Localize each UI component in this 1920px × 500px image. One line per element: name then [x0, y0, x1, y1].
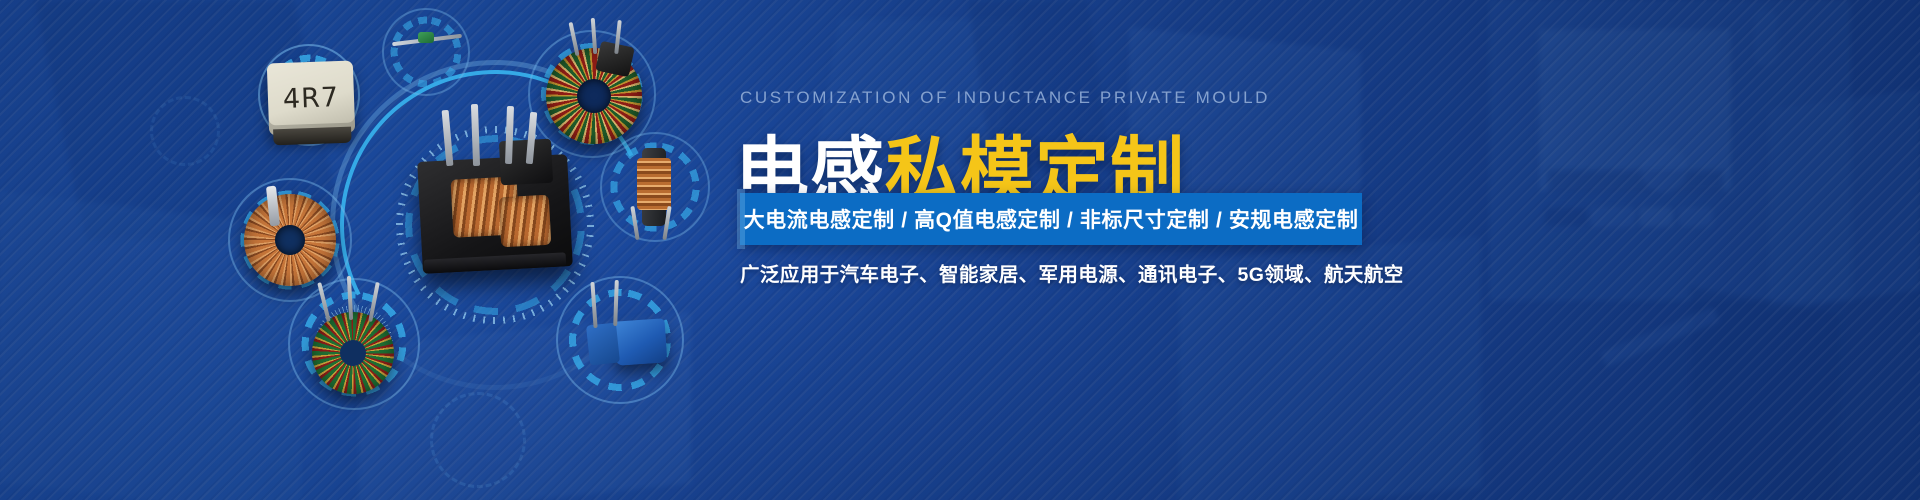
- rod-choke-winding: [637, 158, 671, 210]
- service-list-bar[interactable]: 大电流电感定制 / 高Q值电感定制 / 非标尺寸定制 / 安规电感定制: [740, 193, 1362, 245]
- axial-wire-body: [418, 32, 434, 43]
- product-cluster: 4R7: [0, 0, 740, 500]
- copper-toroid-inductor: [244, 194, 336, 286]
- decorative-ring-left: [150, 96, 220, 166]
- smd-chip-label: 4R7: [282, 82, 339, 115]
- promo-banner: 4R7: [0, 0, 1920, 500]
- smd-inductor-chip: 4R7: [267, 61, 355, 136]
- banner-tagline: 广泛应用于汽车电子、智能家居、军用电源、通讯电子、5G领域、航天航空: [740, 258, 1404, 287]
- green-toroid-inductor: [312, 312, 394, 394]
- blue-inductor-body-small: [586, 323, 620, 366]
- blue-inductor-body: [613, 318, 668, 366]
- banner-eyebrow: CUSTOMIZATION OF INDUCTANCE PRIVATE MOUL…: [740, 88, 1270, 108]
- decorative-ring-bottom: [430, 392, 526, 488]
- banner-content: CUSTOMIZATION OF INDUCTANCE PRIVATE MOUL…: [735, 0, 1865, 500]
- choke-copper-winding-2: [499, 195, 552, 248]
- wire-node-segments: [376, 2, 476, 102]
- pill-accent-edge: [737, 189, 745, 249]
- service-list-text: 大电流电感定制 / 高Q值电感定制 / 非标尺寸定制 / 安规电感定制: [744, 204, 1359, 234]
